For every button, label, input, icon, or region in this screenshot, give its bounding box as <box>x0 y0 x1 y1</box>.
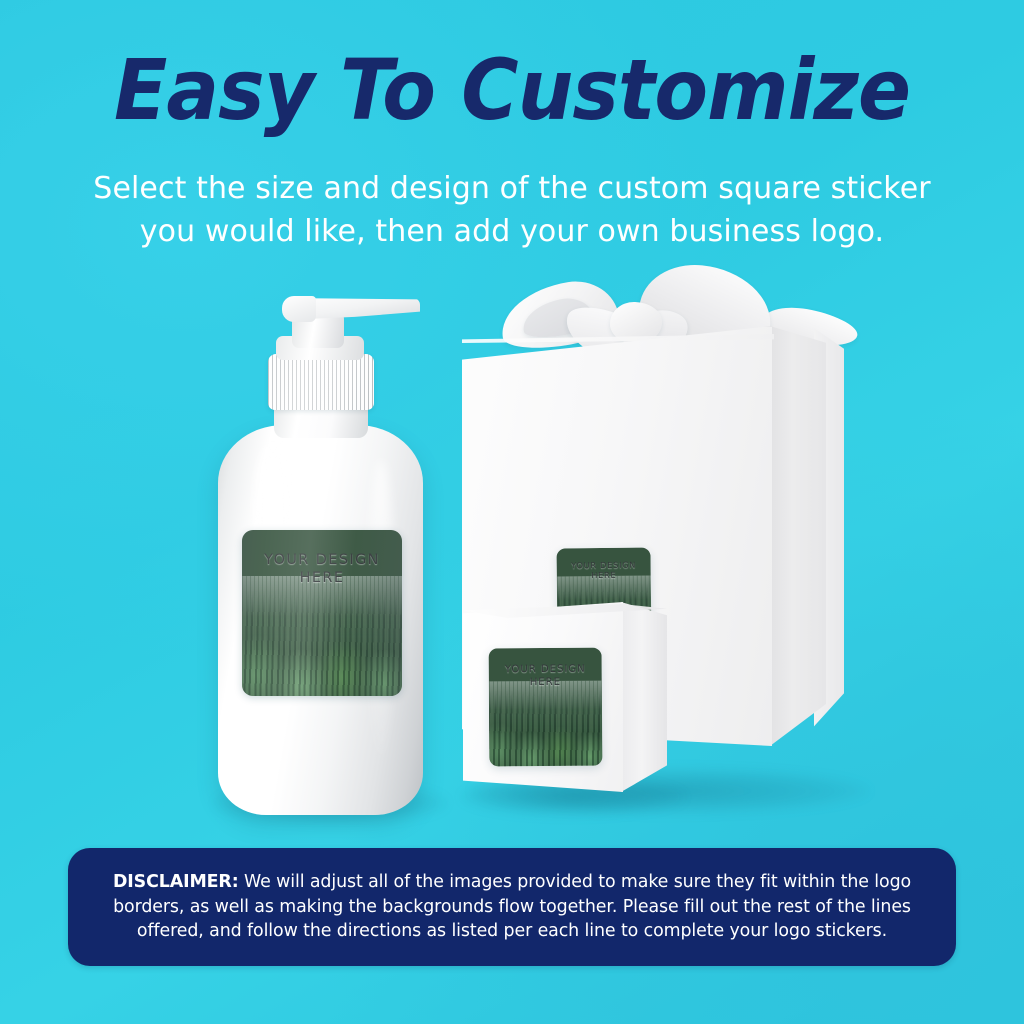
promo-graphic: Easy To Customize Select the size and de… <box>0 0 1024 1024</box>
subtitle: Select the size and design of the custom… <box>80 168 944 253</box>
product-mockup-scene: YOUR DESIGN HERE YOUR DESIGN HERE <box>0 270 1024 830</box>
bottle-pump-nozzle-lip <box>282 296 316 322</box>
sticker-label-line-2: HERE <box>557 570 651 581</box>
sticker-label-line-1: YOUR DESIGN <box>505 664 586 676</box>
sticker-label-line-1: YOUR DESIGN <box>571 560 636 571</box>
sticker-on-small-box: YOUR DESIGN HERE <box>489 648 603 767</box>
sticker-label-text: YOUR DESIGN HERE <box>557 559 651 581</box>
subtitle-line-1: Select the size and design of the custom… <box>80 168 944 211</box>
gift-box-side-panel <box>770 326 826 746</box>
small-product-box-mockup: YOUR DESIGN HERE <box>463 602 673 820</box>
sticker-on-bottle: YOUR DESIGN HERE <box>242 530 402 696</box>
disclaimer-text: DISCLAIMER: We will adjust all of the im… <box>94 870 930 943</box>
subtitle-line-2: you would like, then add your own busine… <box>80 211 944 254</box>
sticker-label-line-2: HERE <box>489 676 602 690</box>
sticker-label-line-2: HERE <box>242 569 402 587</box>
pump-bottle-mockup: YOUR DESIGN HERE <box>218 290 438 820</box>
sticker-label-line-1: YOUR DESIGN <box>264 552 380 568</box>
sticker-label-text: YOUR DESIGN HERE <box>242 551 402 588</box>
small-box-side-panel <box>621 602 667 792</box>
bottle-pump-collar <box>268 354 374 410</box>
page-title: Easy To Customize <box>36 48 988 132</box>
sticker-label-text: YOUR DESIGN HERE <box>489 663 602 690</box>
disclaimer-lead: DISCLAIMER: <box>113 872 239 892</box>
disclaimer-banner: DISCLAIMER: We will adjust all of the im… <box>68 848 956 966</box>
